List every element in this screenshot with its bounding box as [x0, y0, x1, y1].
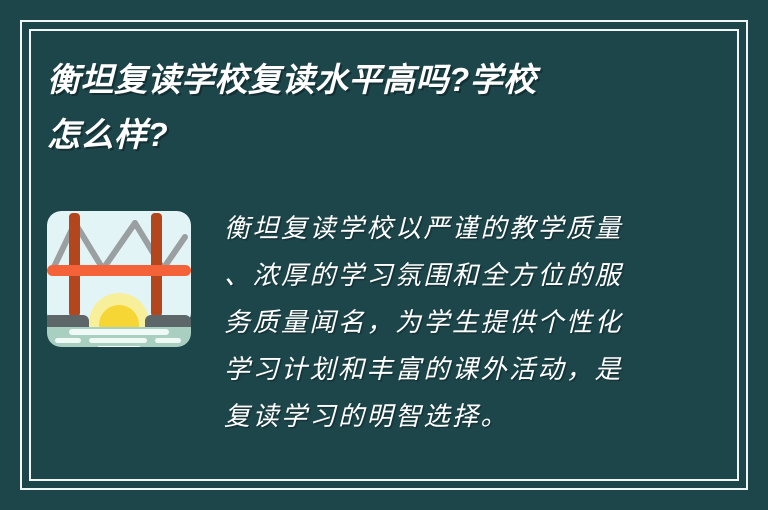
- article-paragraph: 衡坦复读学校以严谨的教学质量 、浓厚的学习氛围和全方位的服 务质量闻名，为学生提…: [224, 205, 721, 440]
- suspension-bridge-sunset-icon: [47, 211, 191, 347]
- article-poster: 衡坦复读学校复读水平高吗?学校 怎么样?: [0, 0, 768, 510]
- article-paragraph-line-2: 、浓厚的学习氛围和全方位的服: [224, 252, 721, 299]
- page-title-line-1: 衡坦复读学校复读水平高吗?学校: [47, 52, 627, 107]
- page-title: 衡坦复读学校复读水平高吗?学校 怎么样?: [47, 52, 627, 162]
- page-title-line-2: 怎么样?: [47, 107, 627, 162]
- article-paragraph-line-5: 复读学习的明智选择。: [224, 393, 721, 440]
- article-content: 衡坦复读学校以严谨的教学质量 、浓厚的学习氛围和全方位的服 务质量闻名，为学生提…: [47, 205, 721, 440]
- article-paragraph-line-3: 务质量闻名，为学生提供个性化: [224, 299, 721, 346]
- article-paragraph-line-4: 学习计划和丰富的课外活动，是: [224, 346, 721, 393]
- article-paragraph-line-1: 衡坦复读学校以严谨的教学质量: [224, 205, 721, 252]
